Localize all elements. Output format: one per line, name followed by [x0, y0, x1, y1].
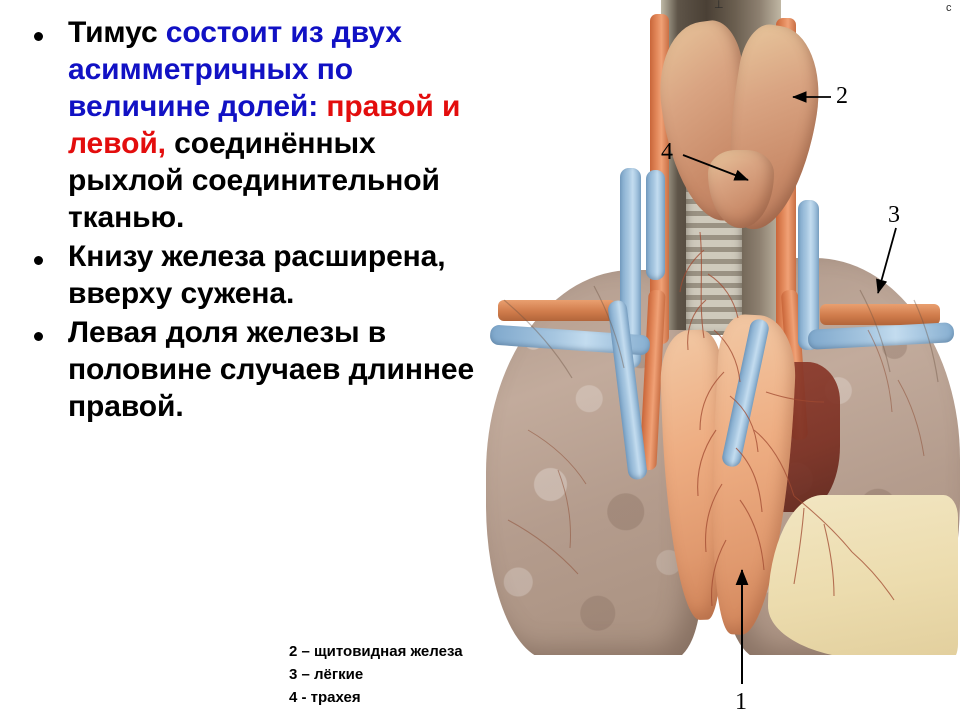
bullet-1-segment-1: Тимус — [68, 16, 166, 49]
slide-canvas: 1 2 3 4 ⊥ c Тимус состоит из двух асимме… — [0, 0, 960, 720]
bullet-dot-icon — [34, 32, 43, 41]
corner-mark-icon: c — [946, 2, 952, 14]
bullet-dot-icon — [34, 256, 43, 265]
callout-number-3: 3 — [888, 203, 900, 227]
callout-number-4: 4 — [661, 140, 673, 164]
photo-bottom-mask — [468, 655, 960, 660]
anatomy-photograph — [468, 0, 960, 660]
bullet-3-text: Левая доля железы в половине случаев дли… — [68, 316, 474, 423]
registration-mark-icon: ⊥ — [714, 0, 724, 11]
vein-upper-left — [646, 170, 665, 280]
photo-surface — [468, 0, 960, 660]
bullet-item-3: Левая доля железы в половине случаев дли… — [22, 314, 492, 425]
legend-block: 2 – щитовидная железа 3 – лёгкие 4 - тра… — [289, 640, 463, 709]
bullet-item-1: Тимус состоит из двух асимметричных по в… — [22, 14, 492, 236]
bronchus-left — [498, 300, 616, 321]
pericardium-region — [768, 495, 958, 660]
bullet-2-text: Книзу железа расширена, вверху сужена. — [68, 240, 446, 310]
legend-line-2: 2 – щитовидная железа — [289, 640, 463, 663]
bullet-dot-icon — [34, 332, 43, 341]
legend-line-3: 3 – лёгкие — [289, 663, 463, 686]
jugular-vein-right — [798, 200, 819, 350]
bullet-item-2: Книзу железа расширена, вверху сужена. — [22, 238, 492, 312]
bronchus-right — [820, 304, 940, 325]
callout-number-1: 1 — [735, 690, 747, 714]
callout-number-2: 2 — [836, 84, 848, 108]
legend-line-4: 4 - трахея — [289, 686, 463, 709]
bullet-text-column: Тимус состоит из двух асимметричных по в… — [22, 14, 492, 427]
